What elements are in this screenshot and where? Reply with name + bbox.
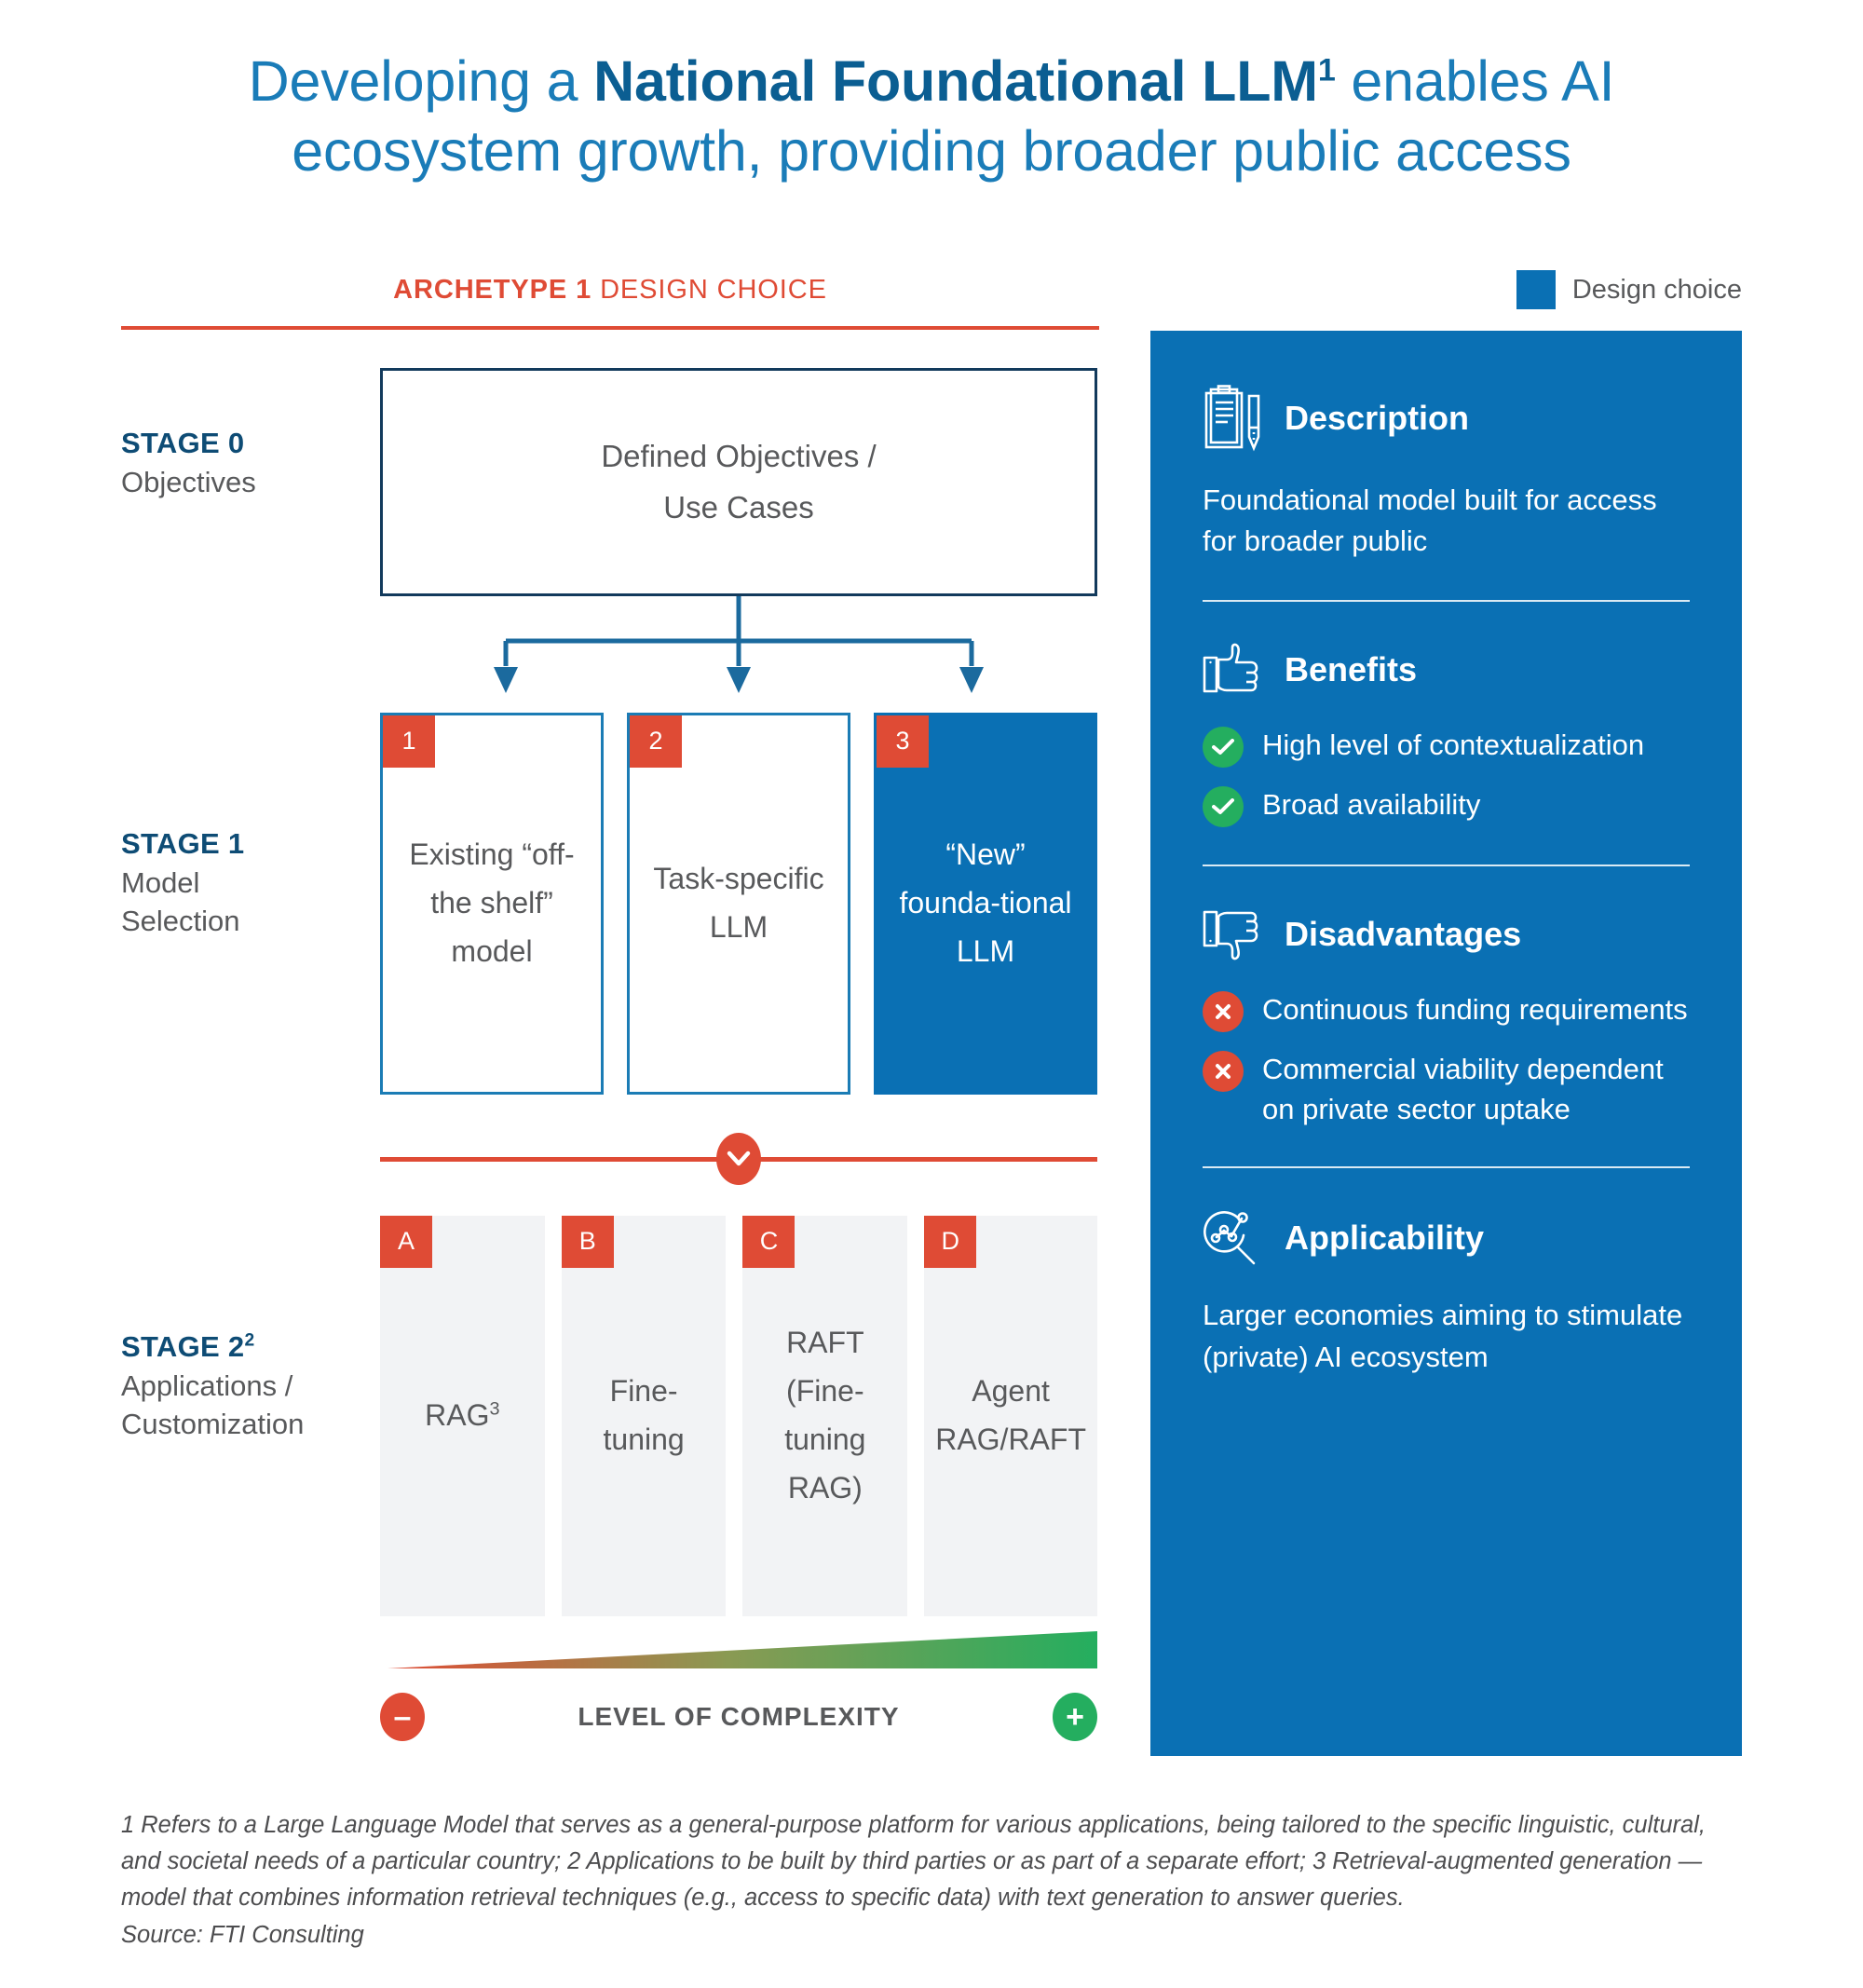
title-part-pre: Developing a	[249, 49, 593, 113]
disadvantage-item: Commercial viability dependent on privat…	[1203, 1049, 1690, 1130]
benefits-header: Benefits	[1203, 643, 1690, 697]
stage-1-option-new-foundational-llm[interactable]: 3 “New” founda-tional LLM	[874, 713, 1097, 1095]
stage-0-box-line1: Defined Objectives /	[601, 431, 876, 482]
stage-1-subtitle-line1: Model	[121, 864, 391, 902]
footnotes-source: Source: FTI Consulting	[121, 1917, 1742, 1954]
cross-glyph	[1214, 1062, 1232, 1081]
stage-2-option-raft[interactable]: C RAFT (Fine-tuning RAG)	[742, 1216, 907, 1616]
magnifier-network-icon	[1203, 1209, 1264, 1267]
archetype-rule	[121, 326, 1099, 330]
check-glyph	[1212, 739, 1234, 756]
stage-2-option-a-label: RAG	[425, 1398, 489, 1432]
complexity-footer: – LEVEL OF COMPLEXITY +	[380, 1689, 1097, 1745]
archetype-label-rest: DESIGN CHOICE	[592, 275, 827, 305]
stage-1-option-task-specific-llm[interactable]: 2 Task-specific LLM	[627, 713, 850, 1095]
archetype-header: ARCHETYPE 1 DESIGN CHOICE	[121, 275, 1099, 306]
cross-icon	[1203, 1051, 1244, 1092]
benefits-list: High level of contextualization Broad av…	[1203, 725, 1690, 827]
stage-0-title: STAGE 0	[121, 424, 391, 463]
stage-2-label: STAGE 22 Applications / Customization	[121, 1328, 391, 1443]
panel-divider-1	[1203, 600, 1690, 602]
complexity-scale: – LEVEL OF COMPLEXITY +	[380, 1626, 1097, 1756]
benefits-title: Benefits	[1285, 650, 1417, 689]
applicability-body: Larger economies aiming to stimulate (pr…	[1203, 1295, 1690, 1378]
complexity-wedge	[380, 1626, 1097, 1674]
stage-2-subtitle-line1: Applications /	[121, 1367, 391, 1405]
disadvantages-list: Continuous funding requirements Commerci…	[1203, 989, 1690, 1130]
disadvantage-item-label: Commercial viability dependent on privat…	[1262, 1049, 1690, 1130]
description-title: Description	[1285, 399, 1469, 438]
cross-glyph	[1214, 1002, 1232, 1021]
stage-1-subtitle-line2: Selection	[121, 902, 391, 940]
chevron-down-glyph	[727, 1151, 751, 1167]
cross-icon	[1203, 991, 1244, 1032]
thumbs-up-icon	[1203, 643, 1264, 697]
stage-2-option-agent-rag-raft[interactable]: D Agent RAG/RAFT	[924, 1216, 1097, 1616]
clipboard-pen-icon	[1203, 385, 1264, 452]
legend: Design choice	[1516, 270, 1742, 309]
disadvantage-item-label: Continuous funding requirements	[1262, 989, 1688, 1029]
benefit-item: Broad availability	[1203, 784, 1690, 827]
benefit-item: High level of contextualization	[1203, 725, 1690, 768]
stage-1-badge-2: 2	[630, 715, 682, 768]
description-body: Foundational model built for access for …	[1203, 480, 1690, 563]
stage-2-option-a-sup: 3	[490, 1398, 500, 1419]
complexity-plus-icon: +	[1053, 1693, 1097, 1741]
stage-1-badge-3: 3	[877, 715, 929, 768]
design-choice-panel: Description Foundational model built for…	[1150, 331, 1742, 1756]
stage-0-box-line2: Use Cases	[663, 483, 813, 533]
stage-2-subtitle-line2: Customization	[121, 1405, 391, 1443]
check-icon	[1203, 786, 1244, 827]
stage-1-options-row: 1 Existing “off-the shelf” model 2 Task-…	[380, 713, 1097, 1095]
title-line2: ecosystem growth, providing broader publ…	[292, 119, 1571, 183]
disadvantage-item: Continuous funding requirements	[1203, 989, 1690, 1032]
stage-1-option-2-label: Task-specific LLM	[650, 855, 827, 952]
connector-svg	[380, 596, 1097, 708]
stage-divider	[380, 1133, 1097, 1185]
archetype-label-bold: ARCHETYPE 1	[393, 275, 592, 305]
complexity-minus-icon: –	[380, 1693, 425, 1741]
chevron-down-icon	[716, 1133, 761, 1185]
panel-divider-2	[1203, 865, 1690, 866]
stage-2-title: STAGE 22	[121, 1328, 391, 1367]
stage-1-option-3-label: “New” founda-tional LLM	[897, 831, 1074, 975]
check-glyph	[1212, 798, 1234, 815]
stage-2-title-sup: 2	[244, 1331, 254, 1351]
benefit-item-label: Broad availability	[1262, 784, 1480, 824]
stage-2-title-text: STAGE 2	[121, 1330, 244, 1363]
stage-2-badge-c: C	[742, 1216, 795, 1268]
footnotes: 1 Refers to a Large Language Model that …	[121, 1807, 1742, 1954]
stage-2-options-row: A RAG3 B Fine-tuning C RAFT (Fine-tuning…	[380, 1216, 1097, 1616]
stage-2-option-c-label: RAFT (Fine-tuning RAG)	[754, 1319, 896, 1512]
stage-1-title: STAGE 1	[121, 824, 391, 864]
stage-2-option-d-label: Agent RAG/RAFT	[935, 1368, 1086, 1464]
stage-1-option-existing-model[interactable]: 1 Existing “off-the shelf” model	[380, 713, 604, 1095]
stage-2-badge-a: A	[380, 1216, 432, 1268]
title-strong-text: National Foundational LLM	[593, 49, 1318, 113]
stage-2-badge-d: D	[924, 1216, 976, 1268]
title-part-mid: enables AI	[1336, 49, 1615, 113]
legend-label-design-choice: Design choice	[1572, 275, 1742, 306]
stage-2-option-rag[interactable]: A RAG3	[380, 1216, 545, 1616]
stage-0-label: STAGE 0 Objectives	[121, 424, 391, 501]
description-header: Description	[1203, 385, 1690, 452]
thumbs-down-icon	[1203, 907, 1264, 961]
applicability-title: Applicability	[1285, 1219, 1484, 1258]
stage-2-option-fine-tuning[interactable]: B Fine-tuning	[562, 1216, 727, 1616]
disadvantages-header: Disadvantages	[1203, 907, 1690, 961]
stage-1-option-1-label: Existing “off-the shelf” model	[403, 831, 580, 975]
page-title: Developing a National Foundational LLM1 …	[0, 47, 1863, 186]
stage-0-subtitle: Objectives	[121, 463, 391, 501]
stage-1-label: STAGE 1 Model Selection	[121, 824, 391, 940]
applicability-header: Applicability	[1203, 1209, 1690, 1267]
stage-2-badge-b: B	[562, 1216, 614, 1268]
panel-divider-3	[1203, 1166, 1690, 1168]
title-part-strong: National Foundational LLM1	[593, 49, 1336, 113]
stage-2-option-b-label: Fine-tuning	[573, 1368, 715, 1464]
stage-0-objectives-box[interactable]: Defined Objectives / Use Cases	[380, 368, 1097, 596]
complexity-label: LEVEL OF COMPLEXITY	[578, 1702, 899, 1732]
stage-2-option-a-text: RAG3	[425, 1392, 499, 1440]
disadvantages-title: Disadvantages	[1285, 915, 1521, 954]
stage-1-badge-1: 1	[383, 715, 435, 768]
stage-connector-tree	[380, 596, 1097, 708]
benefit-item-label: High level of contextualization	[1262, 725, 1644, 765]
footnotes-text: 1 Refers to a Large Language Model that …	[121, 1812, 1706, 1911]
infographic-page: Developing a National Foundational LLM1 …	[0, 0, 1863, 1988]
check-icon	[1203, 727, 1244, 768]
legend-swatch-design-choice	[1516, 270, 1556, 309]
title-strong-sup: 1	[1318, 53, 1336, 89]
